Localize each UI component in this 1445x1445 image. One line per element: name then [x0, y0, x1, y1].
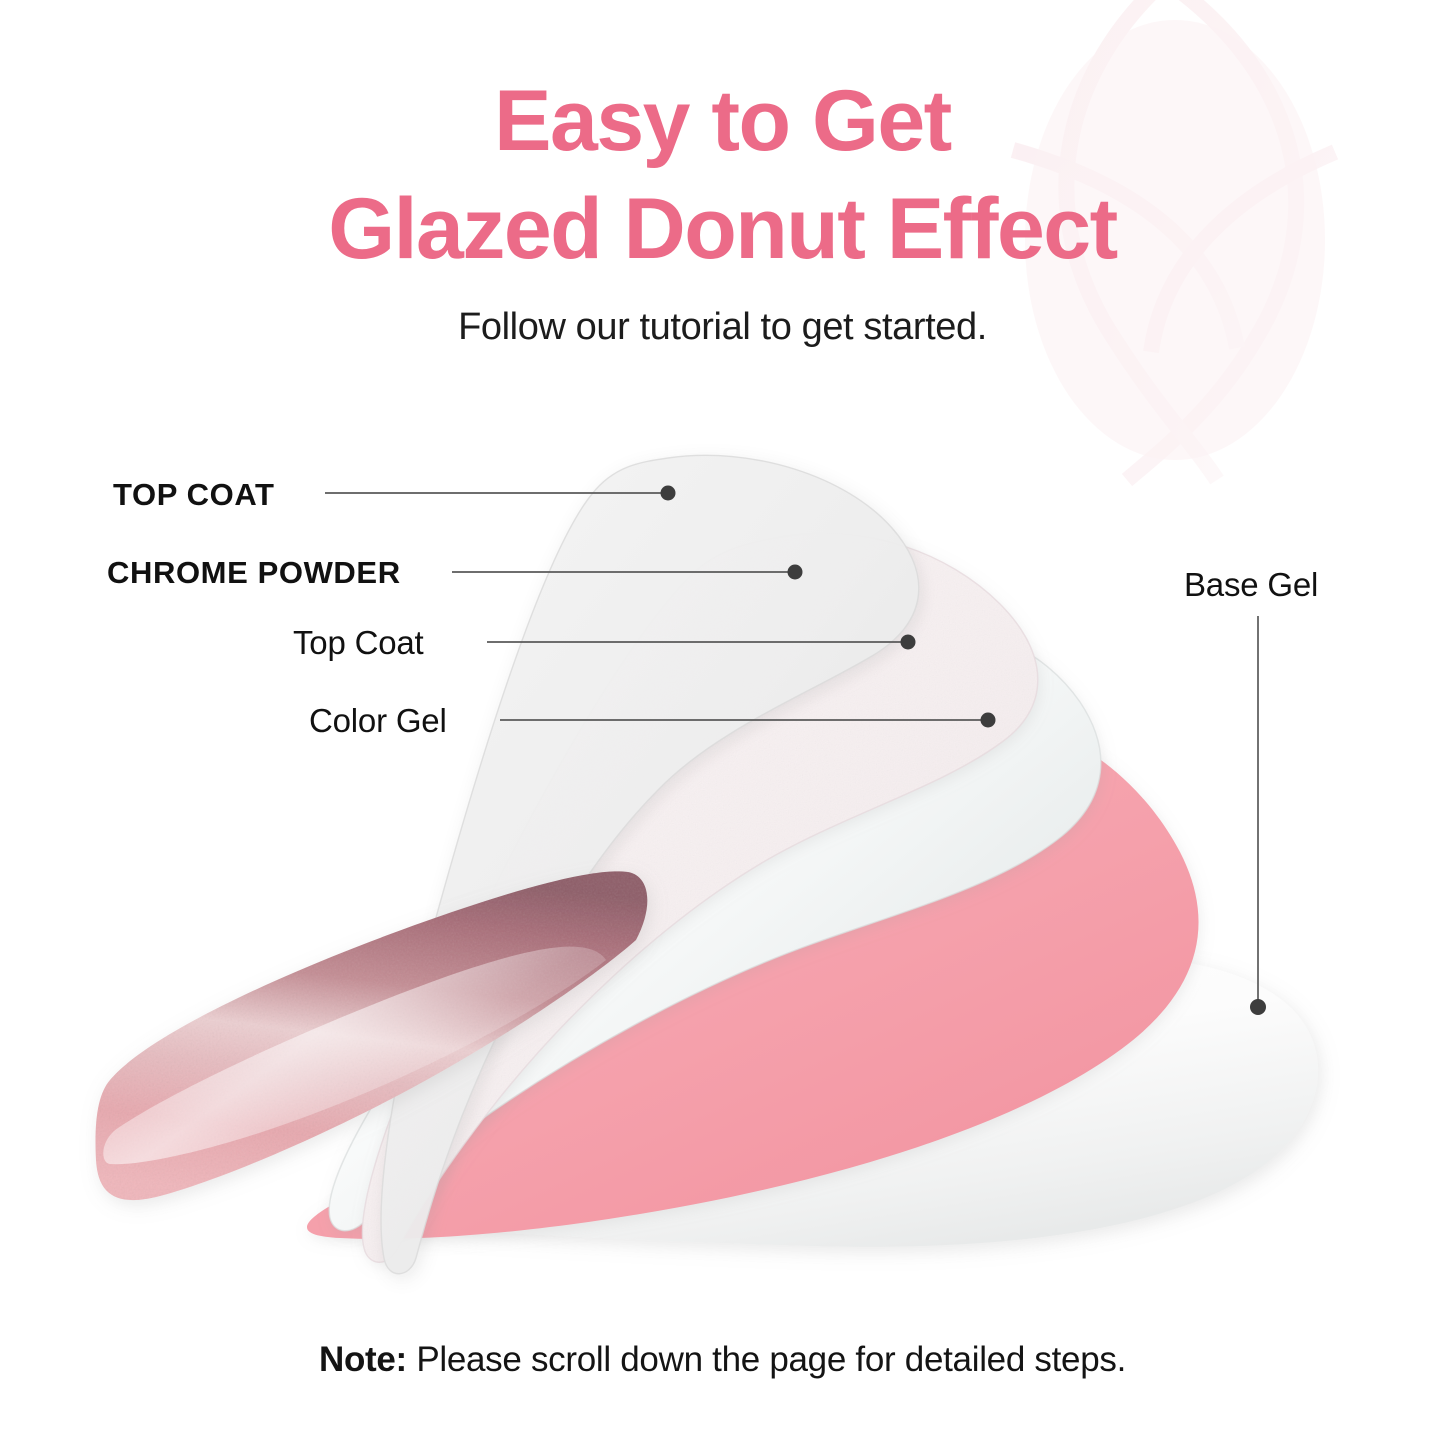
page-title-line-1: Easy to Get [0, 78, 1445, 164]
layer-chrome-powder [362, 533, 1037, 1262]
callout-label-base-gel: Base Gel [1184, 568, 1318, 601]
leader-lines [325, 493, 1258, 1003]
footer-note-label: Note: [319, 1340, 407, 1379]
layer-chrome-finished-nail [96, 871, 648, 1200]
footer-note: Note: Please scroll down the page for de… [0, 1340, 1445, 1380]
callout-label-top-coat-inner: Top Coat [293, 626, 423, 659]
layer-base-gel [332, 956, 1318, 1247]
callout-label-chrome-powder: CHROME POWDER [107, 557, 401, 588]
callout-label-top-coat-outer: TOP COAT [113, 479, 275, 510]
page-subtitle: Follow our tutorial to get started. [0, 306, 1445, 349]
callout-label-color-gel: Color Gel [309, 704, 447, 737]
leader-dot-chrome-powder [788, 565, 803, 580]
leader-dots [661, 486, 1267, 1016]
footer-note-body: Please scroll down the page for detailed… [407, 1340, 1126, 1379]
leader-dot-top-coat-caps [661, 486, 676, 501]
leader-dot-base-gel [1250, 999, 1266, 1015]
page-title-line-2: Glazed Donut Effect [0, 186, 1445, 272]
leader-dot-top-coat [901, 635, 916, 650]
infographic-poster: Easy to Get Glazed Donut Effect Follow o… [0, 0, 1445, 1445]
layer-color-gel [307, 716, 1199, 1239]
header: Easy to Get Glazed Donut Effect Follow o… [0, 0, 1445, 349]
leader-dot-color-gel [981, 713, 996, 728]
layer-top-coat-outer [381, 455, 919, 1273]
